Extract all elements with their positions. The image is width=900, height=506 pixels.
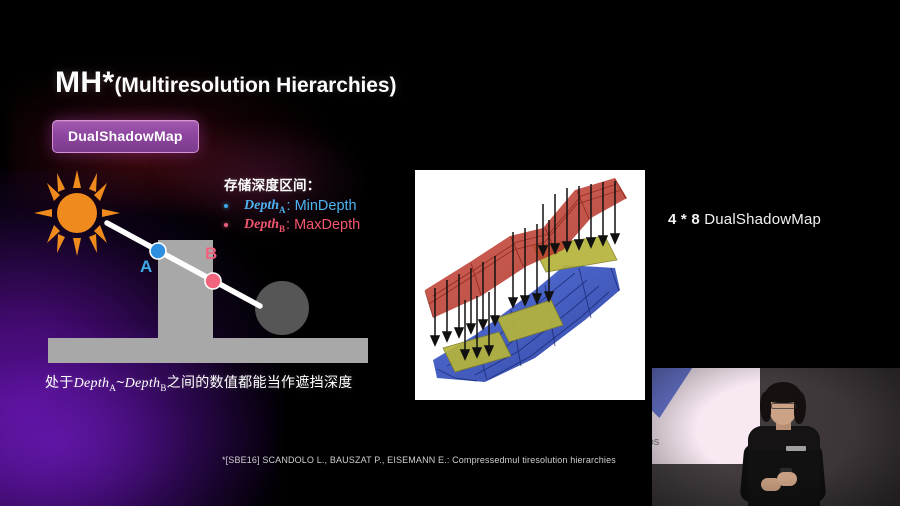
resolution-value: 4 * 8 [668, 211, 700, 228]
resolution-label: DualShadowMap [700, 211, 821, 228]
slide-root: MH* (Multiresolution Hierarchies) DualSh… [0, 0, 900, 506]
slide-title: MH* (Multiresolution Hierarchies) [55, 66, 396, 100]
presenter-video-overlay[interactable]: DS [652, 368, 900, 506]
sphere-occluder [255, 281, 309, 335]
point-b-marker [205, 273, 221, 289]
video-vignette [652, 368, 900, 506]
point-a-label: A [140, 257, 152, 276]
dualshadowmap-resolution-caption: 4 * 8 DualShadowMap [668, 211, 821, 228]
depth-a-term: DepthA [244, 198, 286, 215]
scene-caption: 处于DepthA~DepthB之间的数值都能当作遮挡深度 [45, 372, 353, 393]
depth-list-item: DepthB : MaxDepth [224, 217, 360, 234]
sun-icon [34, 170, 120, 256]
dualshadowmap-badge: DualShadowMap [52, 120, 199, 153]
bullet-a-icon [224, 204, 228, 208]
title-main: MH* [55, 66, 115, 100]
caption-suffix: 之间的数值都能当作遮挡深度 [167, 374, 353, 390]
point-a-marker [150, 243, 166, 259]
depth-b-value: : MaxDepth [286, 217, 360, 233]
depth-a-value: : MinDepth [287, 198, 357, 214]
point-b-label: B [205, 244, 217, 263]
bullet-b-icon [224, 223, 228, 227]
depth-list-heading: 存储深度区间： [224, 174, 360, 194]
caption-tilde: ~ [116, 374, 124, 390]
ground-slab [48, 338, 368, 363]
caption-term-b: DepthB [125, 376, 167, 391]
multiresolution-figure-svg [415, 170, 645, 400]
footer-citation: *[SBE16] SCANDOLO L., BAUSZAT P., EISEMA… [222, 455, 616, 465]
title-subtitle: (Multiresolution Hierarchies) [115, 74, 397, 98]
depth-list-item: DepthA : MinDepth [224, 198, 360, 215]
caption-term-a: DepthA [74, 376, 117, 391]
depth-b-term: DepthB [244, 217, 285, 234]
caption-prefix: 处于 [45, 374, 74, 390]
depth-range-list: 存储深度区间： DepthA : MinDepth DepthB : MaxDe… [224, 174, 360, 234]
multiresolution-figure-panel [415, 170, 645, 400]
